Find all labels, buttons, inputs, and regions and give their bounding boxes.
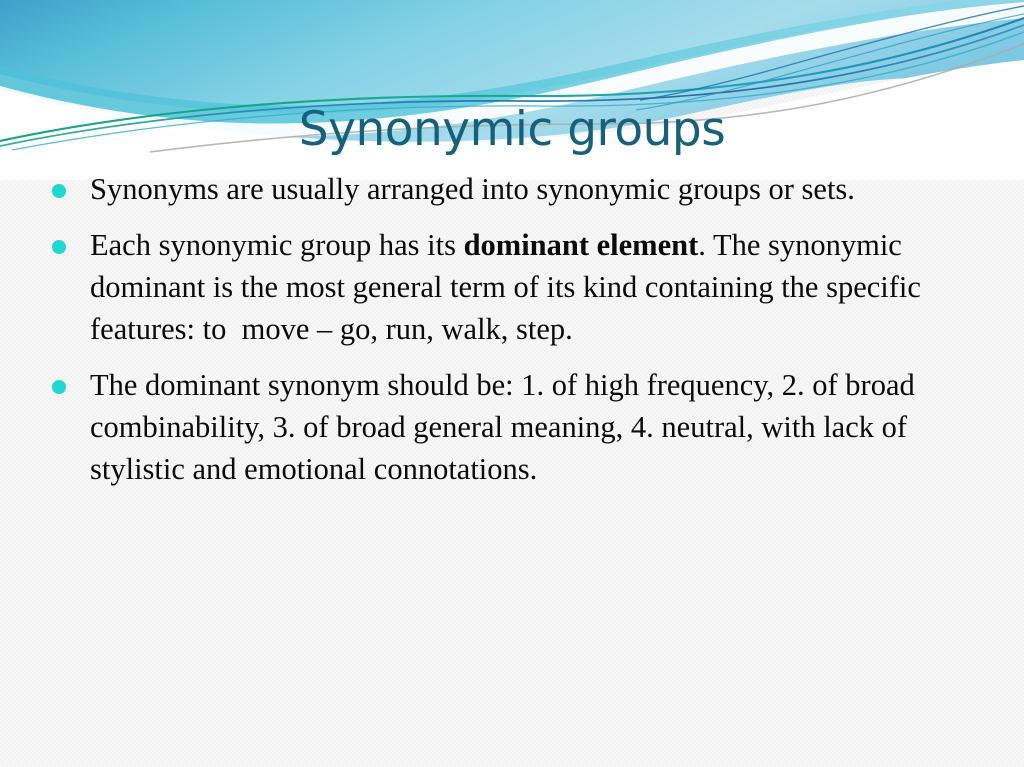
bullet-text-lead: Each synonymic group has its [90, 228, 464, 262]
list-item: The dominant synonym should be: 1. of hi… [26, 364, 992, 490]
bullet-item-text: The dominant synonym should be: 1. of hi… [90, 364, 992, 490]
list-item: Synonyms are usually arranged into synon… [26, 168, 992, 210]
dominant-element-emphasis: dominant element [464, 228, 699, 262]
page-title: Synonymic groups [0, 105, 1024, 155]
bullet-dot-icon [52, 380, 66, 394]
presentation-slide: Synonymic groups Synonyms are usually ar… [0, 0, 1024, 767]
bullet-item-text: Synonyms are usually arranged into synon… [90, 168, 992, 210]
bullet-list: Synonyms are usually arranged into synon… [26, 168, 992, 490]
bullet-item-text: Each synonymic group has its dominant el… [90, 224, 992, 350]
list-item: Each synonymic group has its dominant el… [26, 224, 992, 350]
bullet-dot-icon [52, 184, 66, 198]
bullet-dot-icon [52, 240, 66, 254]
